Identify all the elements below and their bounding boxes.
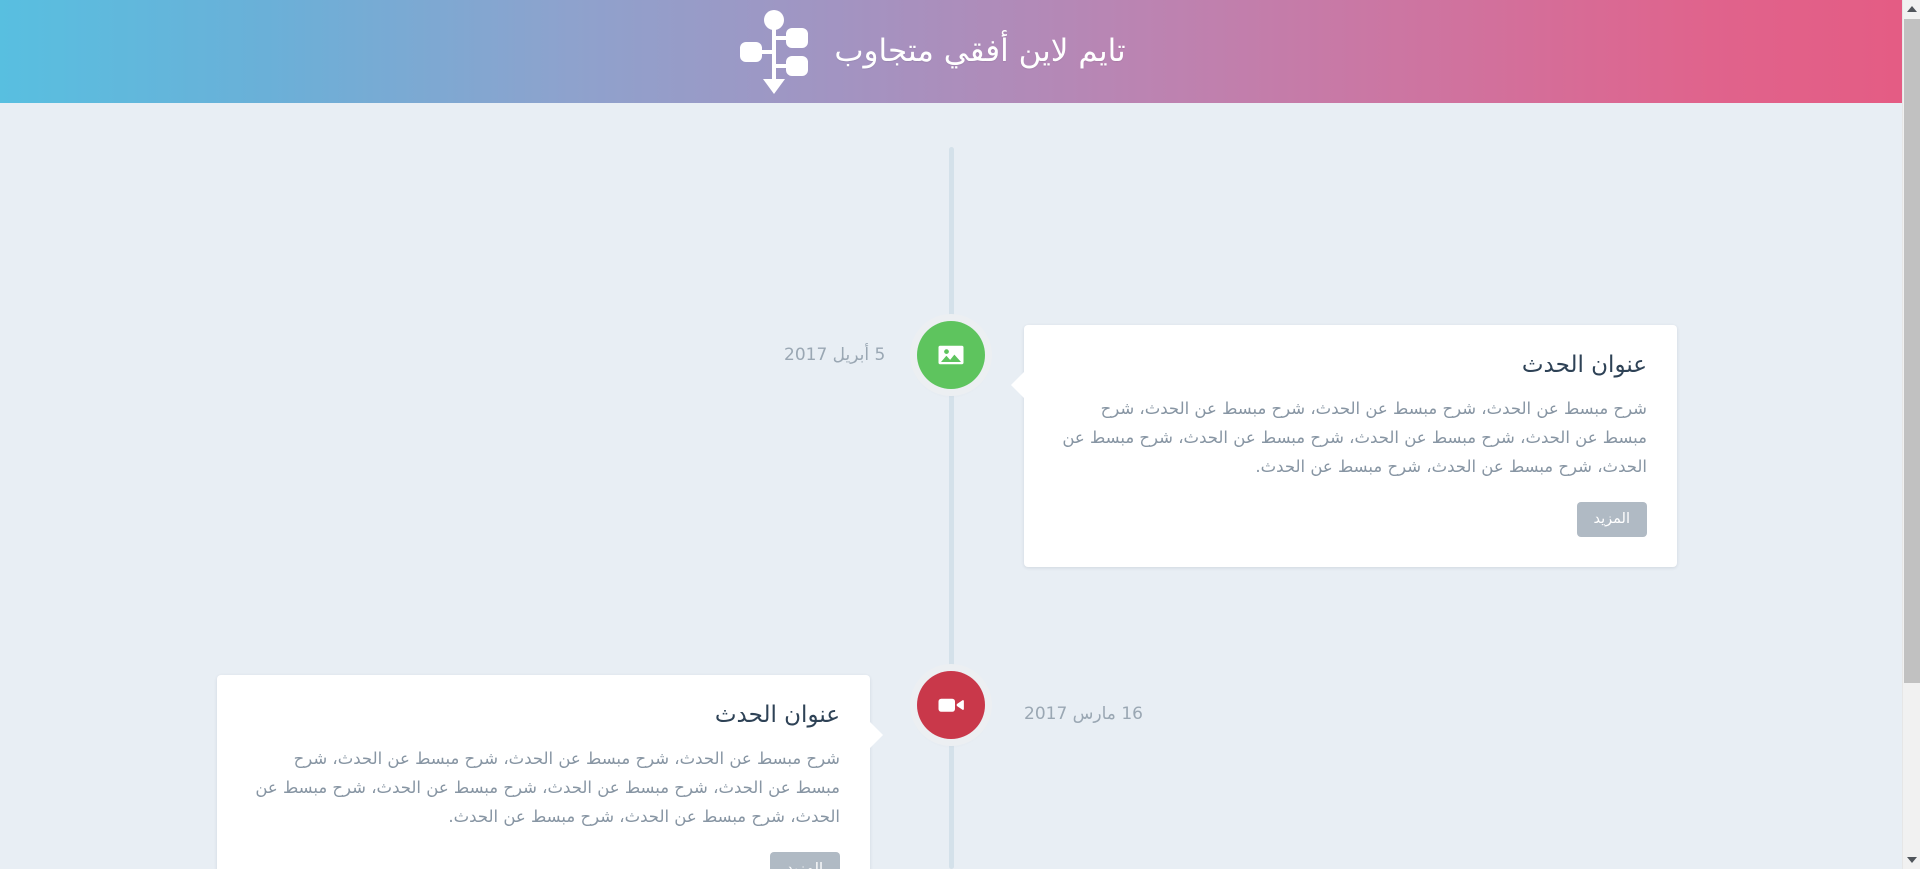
event-date: 5 أبريل 2017 [784,347,885,364]
read-more-button[interactable]: المزيد [1577,502,1647,538]
page-scrollbar[interactable] [1902,0,1920,869]
scrollbar-down-arrow-icon[interactable] [1903,851,1920,869]
header-inner: تايم لاين أفقي متجاوب [740,9,1125,95]
event-card: عنوان الحدث شرح مبسط عن الحدث، شرح مبسط … [217,675,870,869]
timeline: 5 أبريل 2017 عنوان الحدث شرح مبسط عن الح… [0,103,1902,869]
event-marker-video[interactable] [917,671,985,739]
page-title: تايم لاين أفقي متجاوب [834,36,1125,67]
page-viewport: تايم لاين أفقي متجاوب [0,0,1902,869]
timeline-flowchart-icon [740,9,808,95]
read-more-button[interactable]: المزيد [770,852,840,869]
scrollbar-thumb[interactable] [1904,19,1920,683]
event-card-body: شرح مبسط عن الحدث، شرح مبسط عن الحدث، شر… [247,745,840,832]
event-card-title: عنوان الحدث [247,701,840,731]
video-camera-icon [936,690,966,720]
site-header: تايم لاين أفقي متجاوب [0,0,1902,103]
event-marker-image[interactable] [917,321,985,389]
event-date: 16 مارس 2017 [1024,706,1143,723]
event-card-body: شرح مبسط عن الحدث، شرح مبسط عن الحدث، شر… [1054,395,1647,482]
image-icon [936,340,966,370]
event-card: عنوان الحدث شرح مبسط عن الحدث، شرح مبسط … [1024,325,1677,567]
timeline-axis-line [949,147,954,869]
scrollbar-up-arrow-icon[interactable] [1903,0,1920,18]
event-card-title: عنوان الحدث [1054,351,1647,381]
